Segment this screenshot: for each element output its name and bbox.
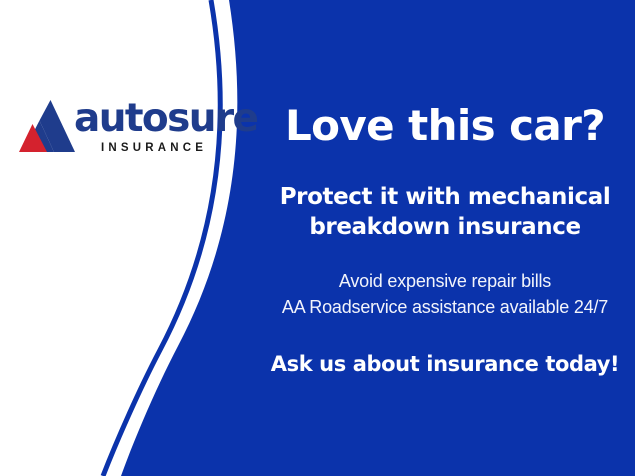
benefit-line-2: AA Roadservice assistance available 24/7 bbox=[255, 294, 635, 320]
autosure-triangle-mark-icon bbox=[18, 98, 76, 154]
benefits-list: Avoid expensive repair bills AA Roadserv… bbox=[255, 268, 635, 320]
autosure-insurance-banner: autosure INSURANCE Love this car? Protec… bbox=[0, 0, 635, 476]
call-to-action-text: Ask us about insurance today! bbox=[255, 350, 635, 378]
logo-wordmark: autosure bbox=[74, 96, 257, 142]
subheadline-line-1: Protect it with mechanical bbox=[255, 182, 635, 212]
headline: Love this car? bbox=[255, 101, 635, 151]
banner-copy-block: Love this car? Protect it with mechanica… bbox=[255, 0, 635, 476]
logo-subtitle: INSURANCE bbox=[101, 142, 207, 154]
subheadline-line-2: breakdown insurance bbox=[255, 212, 635, 242]
subheadline: Protect it with mechanical breakdown ins… bbox=[255, 182, 635, 242]
benefit-line-1: Avoid expensive repair bills bbox=[255, 268, 635, 294]
autosure-logo: autosure INSURANCE bbox=[18, 96, 238, 166]
